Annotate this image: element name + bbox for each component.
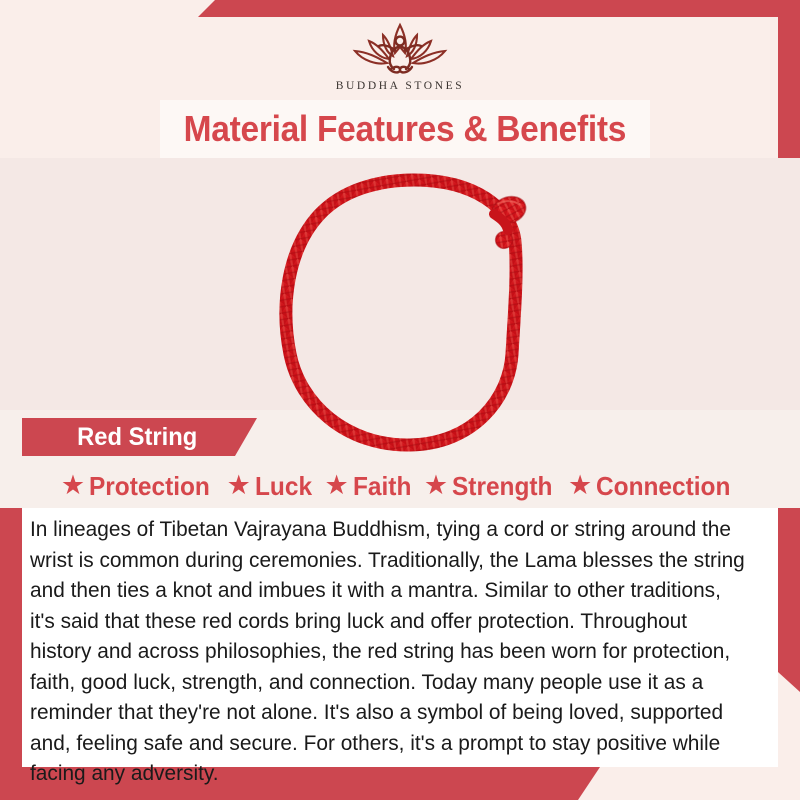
benefit-item-faith: ★ Faith <box>325 471 415 502</box>
star-icon: ★ <box>61 472 85 499</box>
lotus-meditation-icon <box>325 19 475 79</box>
benefit-label: Luck <box>255 471 312 502</box>
infographic-page: BUDDHA STONES Material Features & Benefi… <box>0 0 800 800</box>
description-text: In lineages of Tibetan Vajrayana Buddhis… <box>30 514 746 789</box>
decor-bar-top <box>0 0 800 17</box>
star-icon: ★ <box>227 472 251 499</box>
benefit-label: Connection <box>596 471 730 502</box>
star-icon: ★ <box>424 472 448 499</box>
star-icon: ★ <box>325 472 349 499</box>
title-banner: Material Features & Benefits <box>160 100 650 158</box>
benefit-label: Faith <box>353 471 411 502</box>
benefit-label: Strength <box>452 471 552 502</box>
description-panel: In lineages of Tibetan Vajrayana Buddhis… <box>22 508 778 767</box>
benefit-item-luck: ★ Luck <box>227 471 316 502</box>
product-image-red-string-bracelet <box>262 168 562 458</box>
benefit-item-connection: ★ Connection <box>568 471 739 502</box>
benefits-row: ★ Protection ★ Luck ★ Faith ★ Strength ★… <box>22 466 778 506</box>
page-title: Material Features & Benefits <box>184 108 626 150</box>
star-icon: ★ <box>568 472 592 499</box>
benefit-item-strength: ★ Strength <box>424 471 559 502</box>
brand-wordmark: BUDDHA STONES <box>336 80 464 92</box>
product-label: Red String <box>77 423 197 452</box>
benefit-item-protection: ★ Protection <box>61 471 218 502</box>
brand-logo: BUDDHA STONES <box>0 17 800 100</box>
product-label-banner: Red String <box>22 418 257 456</box>
benefit-label: Protection <box>89 471 210 502</box>
